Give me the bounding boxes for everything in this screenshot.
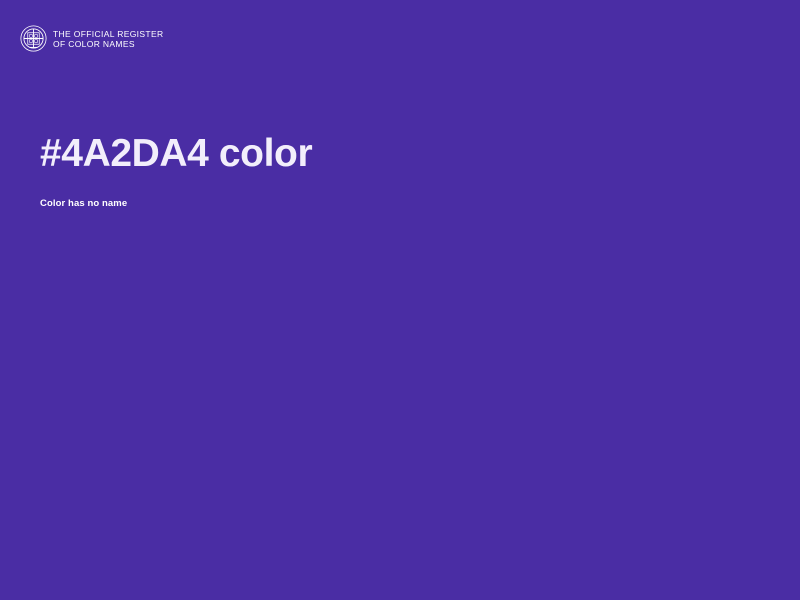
- main-content: #4A2DA4 color Color has no name: [0, 0, 800, 600]
- page-title: #4A2DA4 color: [40, 131, 312, 177]
- color-name-status: Color has no name: [40, 197, 127, 211]
- color-page: THE OFFICIAL REGISTER OF COLOR NAMES #4A…: [0, 0, 800, 600]
